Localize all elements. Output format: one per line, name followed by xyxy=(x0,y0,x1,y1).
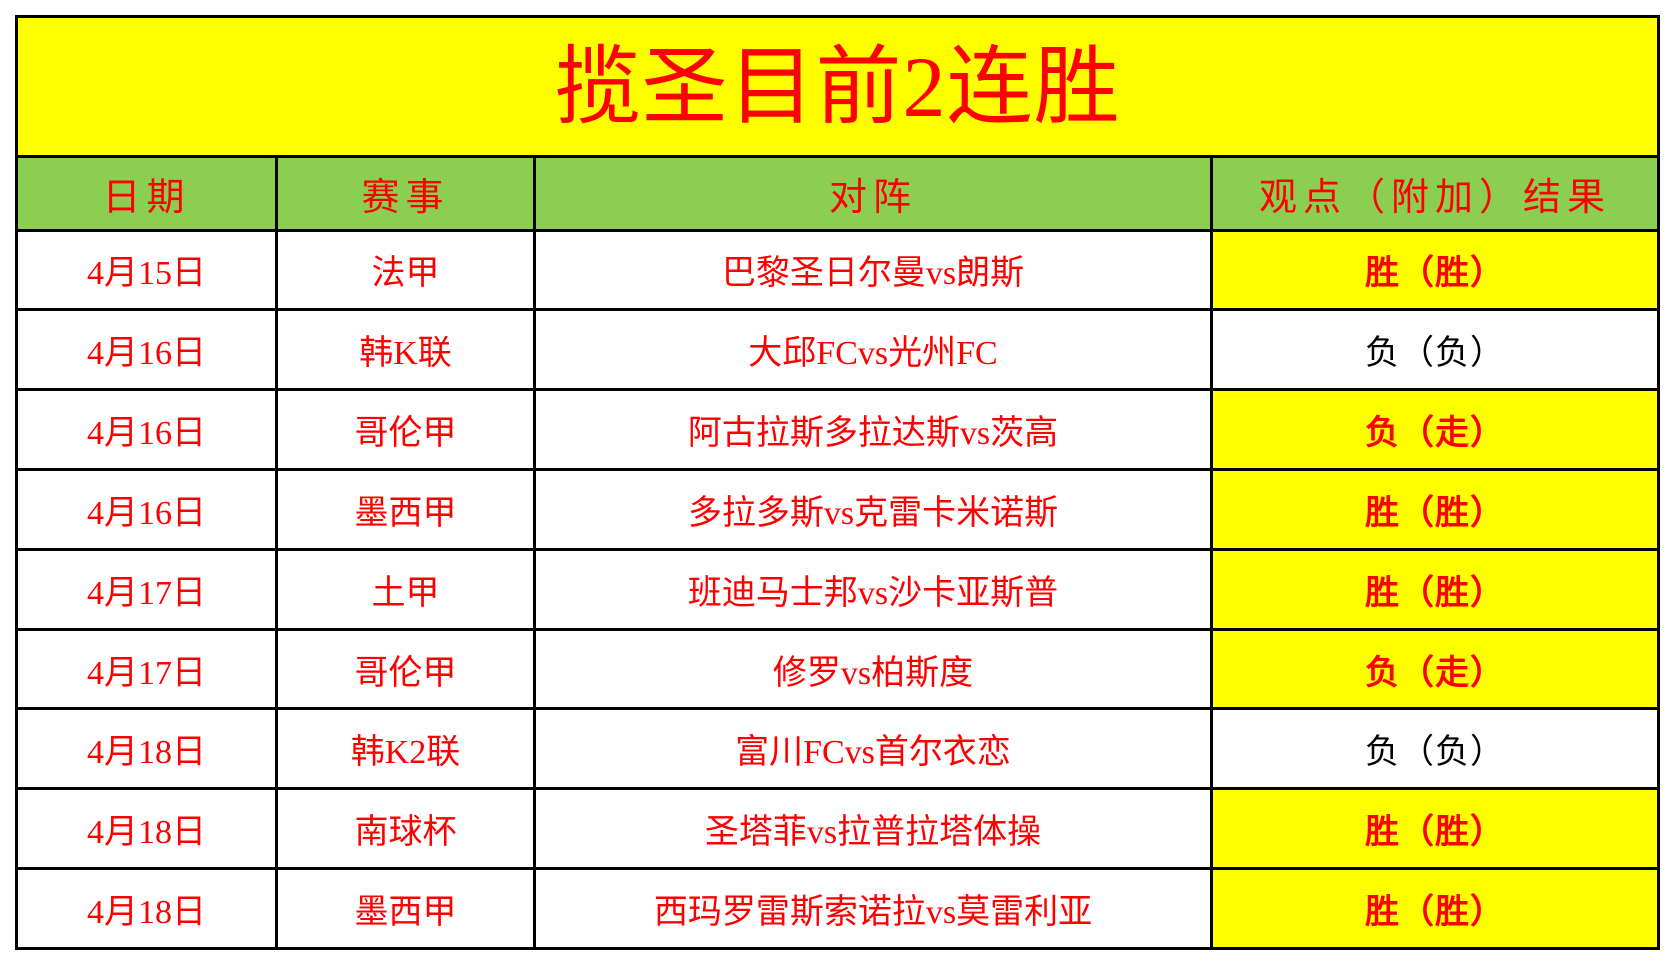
table-body: 揽圣目前2连胜 日期 赛事 对阵 观点（附加）结果 4月15日 法甲 巴黎圣日尔… xyxy=(17,17,1659,949)
cell-date: 4月15日 xyxy=(17,230,277,310)
cell-league: 韩K联 xyxy=(277,310,535,390)
cell-result: 胜（胜） xyxy=(1212,549,1659,629)
table-row: 4月16日 韩K联 大邱FCvs光州FC 负（负） xyxy=(17,310,1659,390)
table-row: 4月18日 墨西甲 西玛罗雷斯索诺拉vs莫雷利亚 胜（胜） xyxy=(17,869,1659,949)
cell-date: 4月18日 xyxy=(17,869,277,949)
cell-result: 胜（胜） xyxy=(1212,470,1659,550)
title-row: 揽圣目前2连胜 xyxy=(17,17,1659,157)
table-row: 4月18日 韩K2联 富川FCvs首尔衣恋 负（负） xyxy=(17,709,1659,789)
cell-date: 4月16日 xyxy=(17,470,277,550)
column-header-match: 对阵 xyxy=(535,157,1212,230)
column-header-league: 赛事 xyxy=(277,157,535,230)
table-row: 4月15日 法甲 巴黎圣日尔曼vs朗斯 胜（胜） xyxy=(17,230,1659,310)
cell-match: 大邱FCvs光州FC xyxy=(535,310,1212,390)
cell-match: 西玛罗雷斯索诺拉vs莫雷利亚 xyxy=(535,869,1212,949)
cell-league: 哥伦甲 xyxy=(277,390,535,470)
cell-league: 墨西甲 xyxy=(277,470,535,550)
cell-match: 圣塔菲vs拉普拉塔体操 xyxy=(535,789,1212,869)
cell-league: 韩K2联 xyxy=(277,709,535,789)
cell-date: 4月18日 xyxy=(17,789,277,869)
cell-league: 哥伦甲 xyxy=(277,629,535,709)
cell-date: 4月16日 xyxy=(17,390,277,470)
column-header-date: 日期 xyxy=(17,157,277,230)
cell-result: 负（走） xyxy=(1212,390,1659,470)
cell-date: 4月16日 xyxy=(17,310,277,390)
table-row: 4月17日 土甲 班迪马士邦vs沙卡亚斯普 胜（胜） xyxy=(17,549,1659,629)
cell-match: 班迪马士邦vs沙卡亚斯普 xyxy=(535,549,1212,629)
cell-match: 富川FCvs首尔衣恋 xyxy=(535,709,1212,789)
cell-match: 多拉多斯vs克雷卡米诺斯 xyxy=(535,470,1212,550)
table-row: 4月16日 墨西甲 多拉多斯vs克雷卡米诺斯 胜（胜） xyxy=(17,470,1659,550)
table-row: 4月18日 南球杯 圣塔菲vs拉普拉塔体操 胜（胜） xyxy=(17,789,1659,869)
cell-date: 4月17日 xyxy=(17,629,277,709)
cell-match: 巴黎圣日尔曼vs朗斯 xyxy=(535,230,1212,310)
cell-result: 胜（胜） xyxy=(1212,869,1659,949)
cell-league: 南球杯 xyxy=(277,789,535,869)
table-row: 4月17日 哥伦甲 修罗vs柏斯度 负（走） xyxy=(17,629,1659,709)
cell-match: 修罗vs柏斯度 xyxy=(535,629,1212,709)
cell-result: 负（走） xyxy=(1212,629,1659,709)
cell-league: 墨西甲 xyxy=(277,869,535,949)
cell-league: 土甲 xyxy=(277,549,535,629)
page-root: 揽圣目前2连胜 日期 赛事 对阵 观点（附加）结果 4月15日 法甲 巴黎圣日尔… xyxy=(0,0,1672,964)
page-title: 揽圣目前2连胜 xyxy=(17,17,1659,157)
cell-date: 4月17日 xyxy=(17,549,277,629)
cell-result: 胜（胜） xyxy=(1212,230,1659,310)
cell-result: 胜（胜） xyxy=(1212,789,1659,869)
cell-date: 4月18日 xyxy=(17,709,277,789)
cell-match: 阿古拉斯多拉达斯vs茨高 xyxy=(535,390,1212,470)
cell-result: 负（负） xyxy=(1212,310,1659,390)
cell-league: 法甲 xyxy=(277,230,535,310)
prediction-table: 揽圣目前2连胜 日期 赛事 对阵 观点（附加）结果 4月15日 法甲 巴黎圣日尔… xyxy=(15,15,1660,950)
table-header-row: 日期 赛事 对阵 观点（附加）结果 xyxy=(17,157,1659,230)
cell-result: 负（负） xyxy=(1212,709,1659,789)
table-row: 4月16日 哥伦甲 阿古拉斯多拉达斯vs茨高 负（走） xyxy=(17,390,1659,470)
column-header-result: 观点（附加）结果 xyxy=(1212,157,1659,230)
